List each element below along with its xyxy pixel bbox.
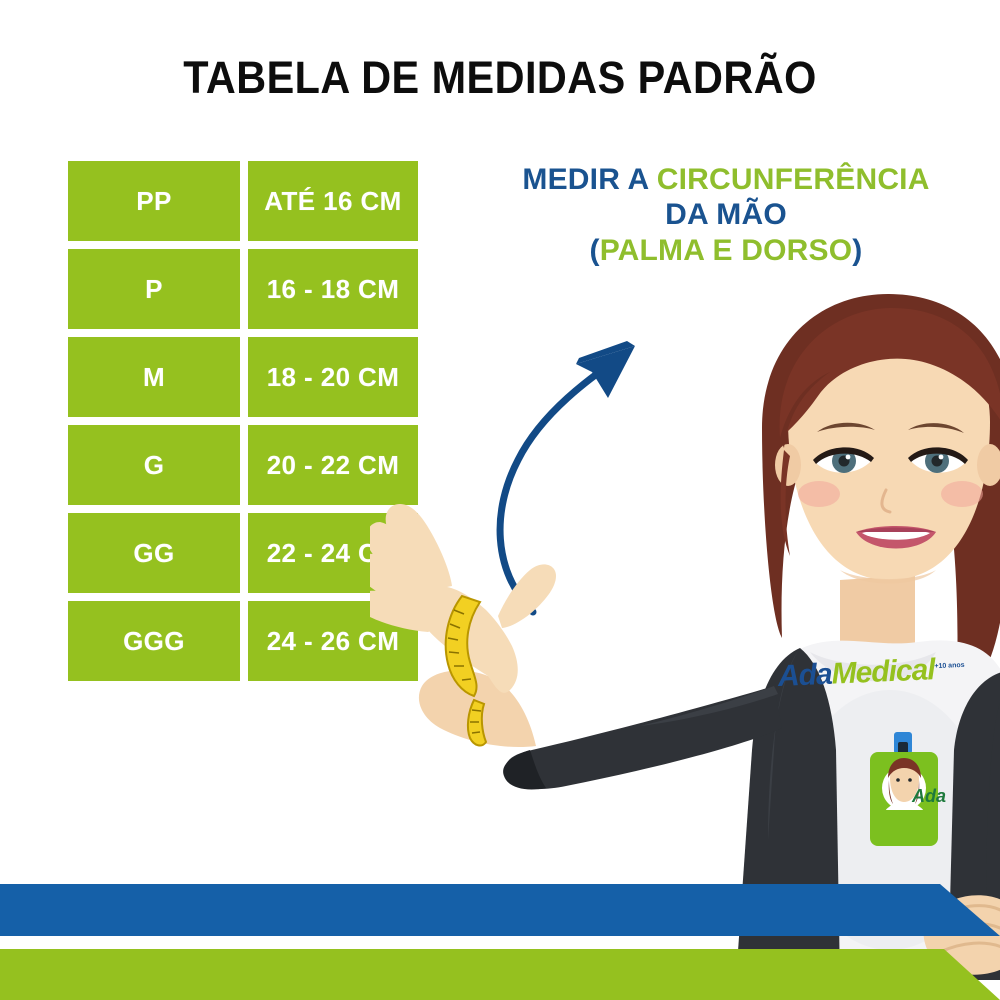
illustration-character-with-hand [370,280,1000,980]
extended-arm-with-hand [370,504,782,790]
size-label-cell: P [68,249,240,329]
size-range-cell: ATÉ 16 CM [248,161,418,241]
bottom-blue-band [0,884,1000,936]
instruction-line1-keyword: CIRCUNFERÊNCIA [657,163,930,196]
instruction-paren-open: ( [589,234,599,267]
shirt-logo-ada: Ada [777,658,832,693]
table-row: PP ATÉ 16 CM [68,161,418,241]
instruction-paren-close: ) [852,234,862,267]
instruction-line2: DA MÃO [665,198,787,231]
table-row: G 20 - 22 CM [68,425,418,505]
size-label-cell: G [68,425,240,505]
bottom-green-band [0,949,1000,1000]
table-row: GGG 24 - 26 CM [68,601,418,681]
size-label-cell: GG [68,513,240,593]
size-label-cell: M [68,337,240,417]
size-chart-table: PP ATÉ 16 CM P 16 - 18 CM M 18 - 20 CM G… [68,161,418,681]
shirt-logo-superscript: +10 anos [934,662,964,670]
instruction-line1-prefix: MEDIR A [522,163,648,196]
instruction-line3-keyword: PALMA E DORSO [600,234,853,267]
table-row: GG 22 - 24 CM [68,513,418,593]
size-label-cell: GGG [68,601,240,681]
poster-canvas: TABELA DE MEDIDAS PADRÃO PP ATÉ 16 CM P … [0,0,1000,1000]
shirt-logo-medical: Medical [831,653,935,690]
page-title: TABELA DE MEDIDAS PADRÃO [40,52,960,104]
character-figure [736,294,1000,980]
table-row: P 16 - 18 CM [68,249,418,329]
size-label-cell: PP [68,161,240,241]
table-row: M 18 - 20 CM [68,337,418,417]
badge-name-label: Ada [912,786,946,807]
measure-instruction: MEDIR A CIRCUNFERÊNCIA DA MÃO (PALMA E D… [480,162,972,268]
